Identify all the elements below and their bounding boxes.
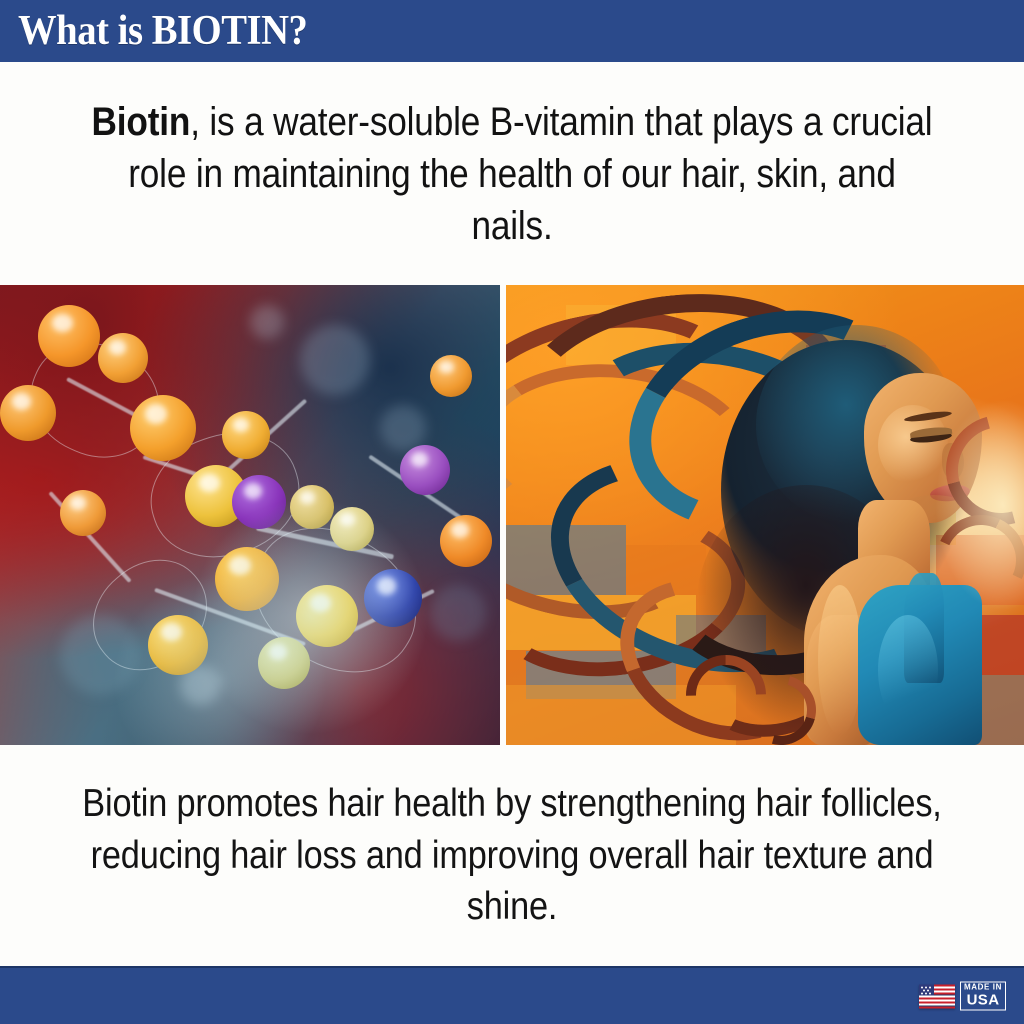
us-flag-icon <box>919 984 955 1008</box>
intro-body-text: , is a water-soluble B-vitamin that play… <box>128 100 932 248</box>
page-title: What is BIOTIN? <box>18 10 307 52</box>
image-band <box>0 285 1024 745</box>
molecule-glow <box>0 285 500 745</box>
intro-text-section: Biotin, is a water-soluble B-vitamin tha… <box>0 62 1024 285</box>
made-in-usa-text: MADE IN USA <box>960 982 1006 1011</box>
made-in-usa-badge: MADE IN USA <box>919 982 1006 1011</box>
arm-highlight <box>818 585 862 735</box>
light-burst <box>926 385 1024 625</box>
outro-text-section: Biotin promotes hair health by strengthe… <box>0 745 1024 966</box>
top-highlight <box>878 615 938 725</box>
flag-canton <box>919 984 934 995</box>
footer-bar: MADE IN USA <box>0 966 1024 1024</box>
header-bar: What is BIOTIN? <box>0 0 1024 62</box>
badge-line-made-in: MADE IN <box>964 984 1002 992</box>
intro-lead-word: Biotin <box>92 100 191 144</box>
intro-paragraph: Biotin, is a water-soluble B-vitamin tha… <box>90 96 935 252</box>
molecule-image-panel <box>0 285 500 745</box>
hair-art-image-panel <box>506 285 1024 745</box>
badge-line-usa: USA <box>964 993 1002 1008</box>
outro-paragraph: Biotin promotes hair health by strengthe… <box>81 778 943 932</box>
